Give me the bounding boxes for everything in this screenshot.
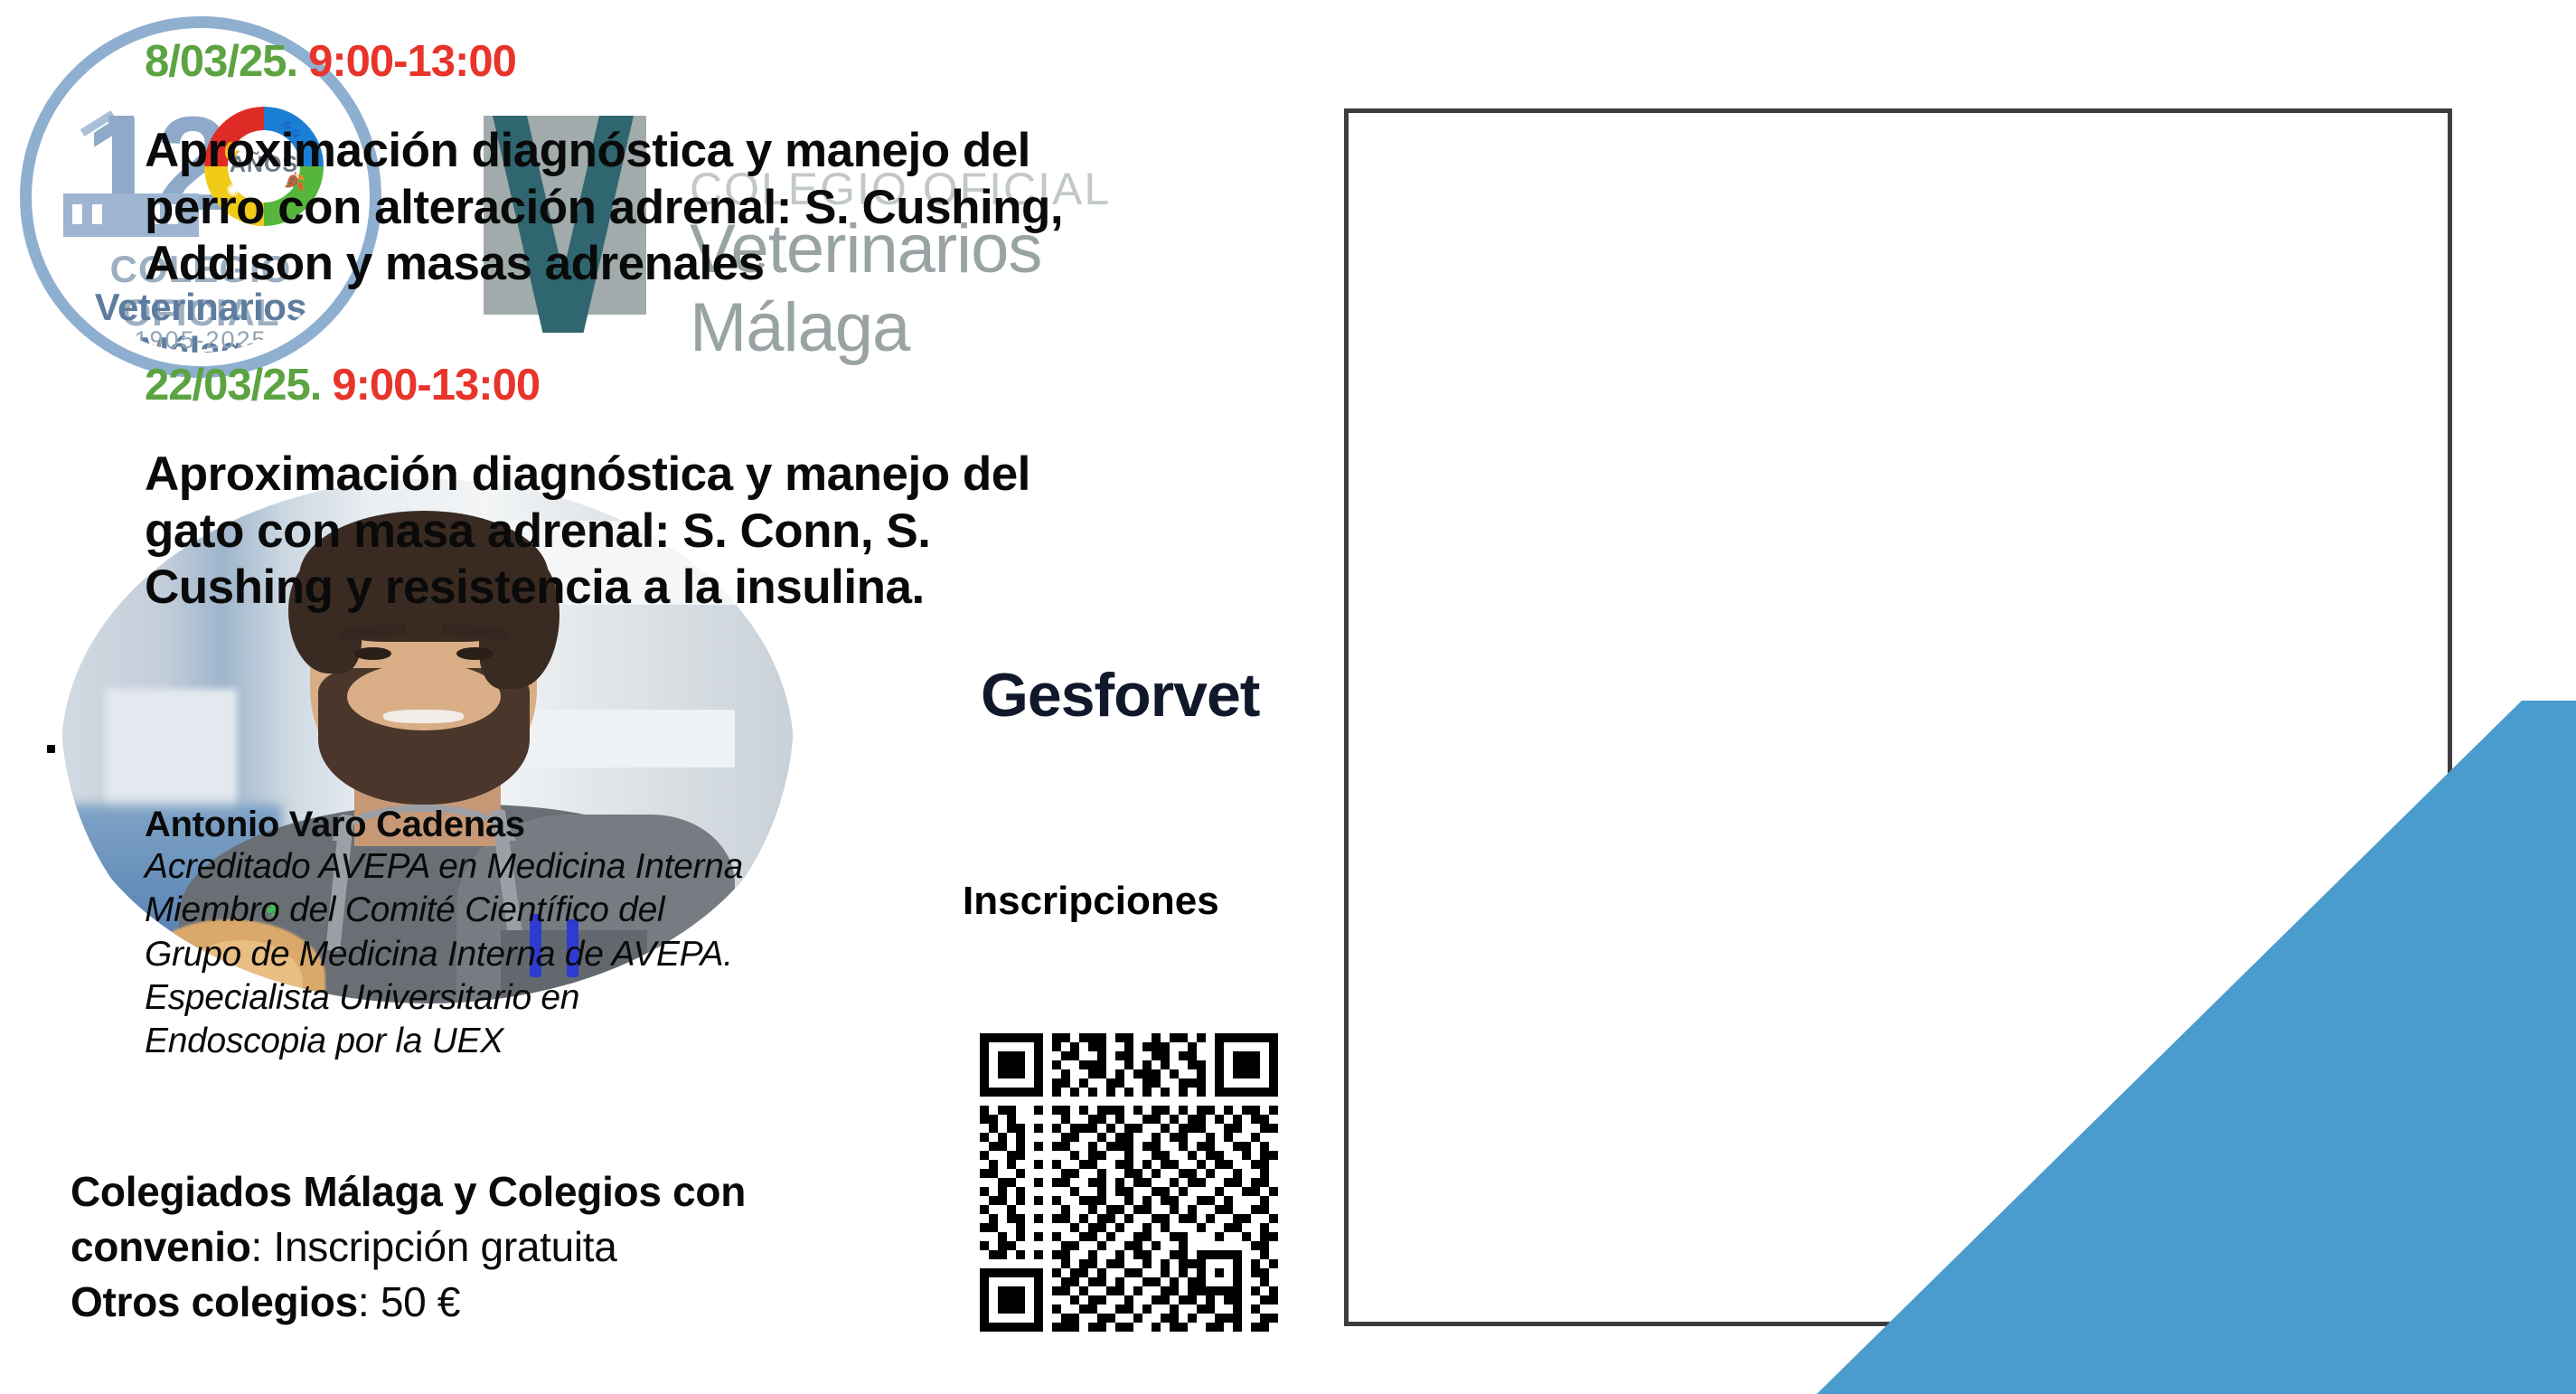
pricing-line-3-label: Otros colegios xyxy=(71,1278,358,1325)
speaker-credential-5: Endoscopia por la UEX xyxy=(145,1020,940,1063)
badge-years-range: 1905-2025 xyxy=(45,326,356,353)
session-1-date: 8/03/25. xyxy=(145,37,297,86)
qr-code-image xyxy=(980,1033,1278,1332)
session-item-2: 22/03/25.9:00-13:00 Aproximación diagnós… xyxy=(145,360,1076,617)
session-1-when: 8/03/25.9:00-13:00 xyxy=(145,36,1076,87)
pricing-line-1-label: Colegiados Málaga y Colegios con xyxy=(71,1168,746,1215)
session-panel xyxy=(1344,108,2452,1326)
session-2-when: 22/03/25.9:00-13:00 xyxy=(145,360,1076,410)
pricing-line-3-value: : 50 € xyxy=(358,1278,460,1325)
session-2-title: Aproximación diagnóstica y manejo del ga… xyxy=(145,447,1076,617)
session-2-time: 9:00-13:00 xyxy=(332,361,540,410)
speaker-block: Antonio Varo Cadenas Acreditado AVEPA en… xyxy=(145,805,940,1064)
sponsor-logo: Gesforvet xyxy=(981,660,1259,730)
pricing-line-2-value: : Inscripción gratuita xyxy=(251,1223,617,1270)
qr-code[interactable] xyxy=(980,1033,1278,1332)
session-2-date: 22/03/25. xyxy=(145,361,321,410)
session-1-time: 9:00-13:00 xyxy=(308,37,516,86)
decorative-dot xyxy=(47,745,55,753)
speaker-credential-2: Miembro del Comité Científico del xyxy=(145,889,940,932)
speaker-credential-4: Especialista Universitario en xyxy=(145,976,940,1020)
registration-heading: Inscripciones xyxy=(963,879,1219,924)
session-1-title: Aproximación diagnóstica y manejo del pe… xyxy=(145,123,1076,293)
session-item-1: 8/03/25.9:00-13:00 Aproximación diagnóst… xyxy=(145,36,1076,293)
pricing-line-2-label: convenio xyxy=(71,1223,251,1270)
speaker-credential-3: Grupo de Medicina Interna de AVEPA. xyxy=(145,933,940,976)
pricing-line-1: Colegiados Málaga y Colegios con xyxy=(71,1164,938,1220)
speaker-name: Antonio Varo Cadenas xyxy=(145,805,940,845)
pricing-block: Colegiados Málaga y Colegios con conveni… xyxy=(71,1164,938,1331)
speaker-credential-1: Acreditado AVEPA en Medicina Interna xyxy=(145,845,940,889)
pricing-line-2: convenio: Inscripción gratuita xyxy=(71,1220,938,1275)
pricing-line-3: Otros colegios: 50 € xyxy=(71,1275,938,1330)
